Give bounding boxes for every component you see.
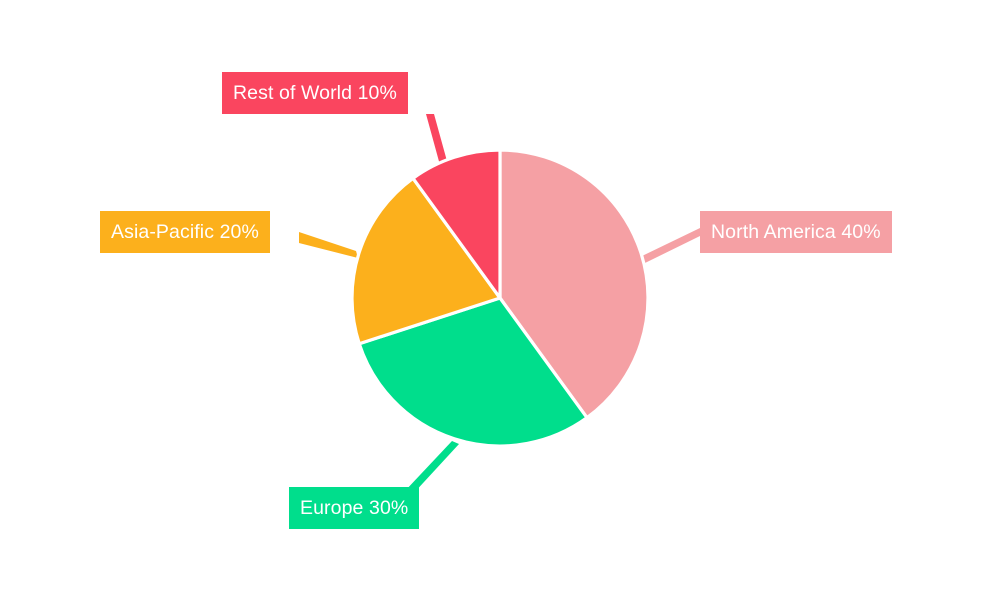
leader-line-asia-pacific: [299, 232, 358, 258]
pie-slices: [352, 150, 648, 446]
pie-chart-figure: North America 40% Europe 30% Asia-Pacifi…: [0, 0, 1000, 600]
pie-label-europe-text: Europe 30%: [300, 487, 408, 529]
pie-label-asia-pacific-text: Asia-Pacific 20%: [111, 211, 259, 253]
pie-label-north-america-text: North America 40%: [711, 211, 881, 253]
pie-chart-canvas: [0, 0, 1000, 600]
pie-label-rest-of-world[interactable]: Rest of World 10%: [222, 72, 408, 114]
pie-label-north-america[interactable]: North America 40%: [700, 211, 892, 253]
pie-label-asia-pacific[interactable]: Asia-Pacific 20%: [100, 211, 270, 253]
pie-label-rest-of-world-text: Rest of World 10%: [233, 72, 397, 114]
leader-line-north-america: [642, 228, 700, 263]
pie-label-europe[interactable]: Europe 30%: [289, 487, 419, 529]
